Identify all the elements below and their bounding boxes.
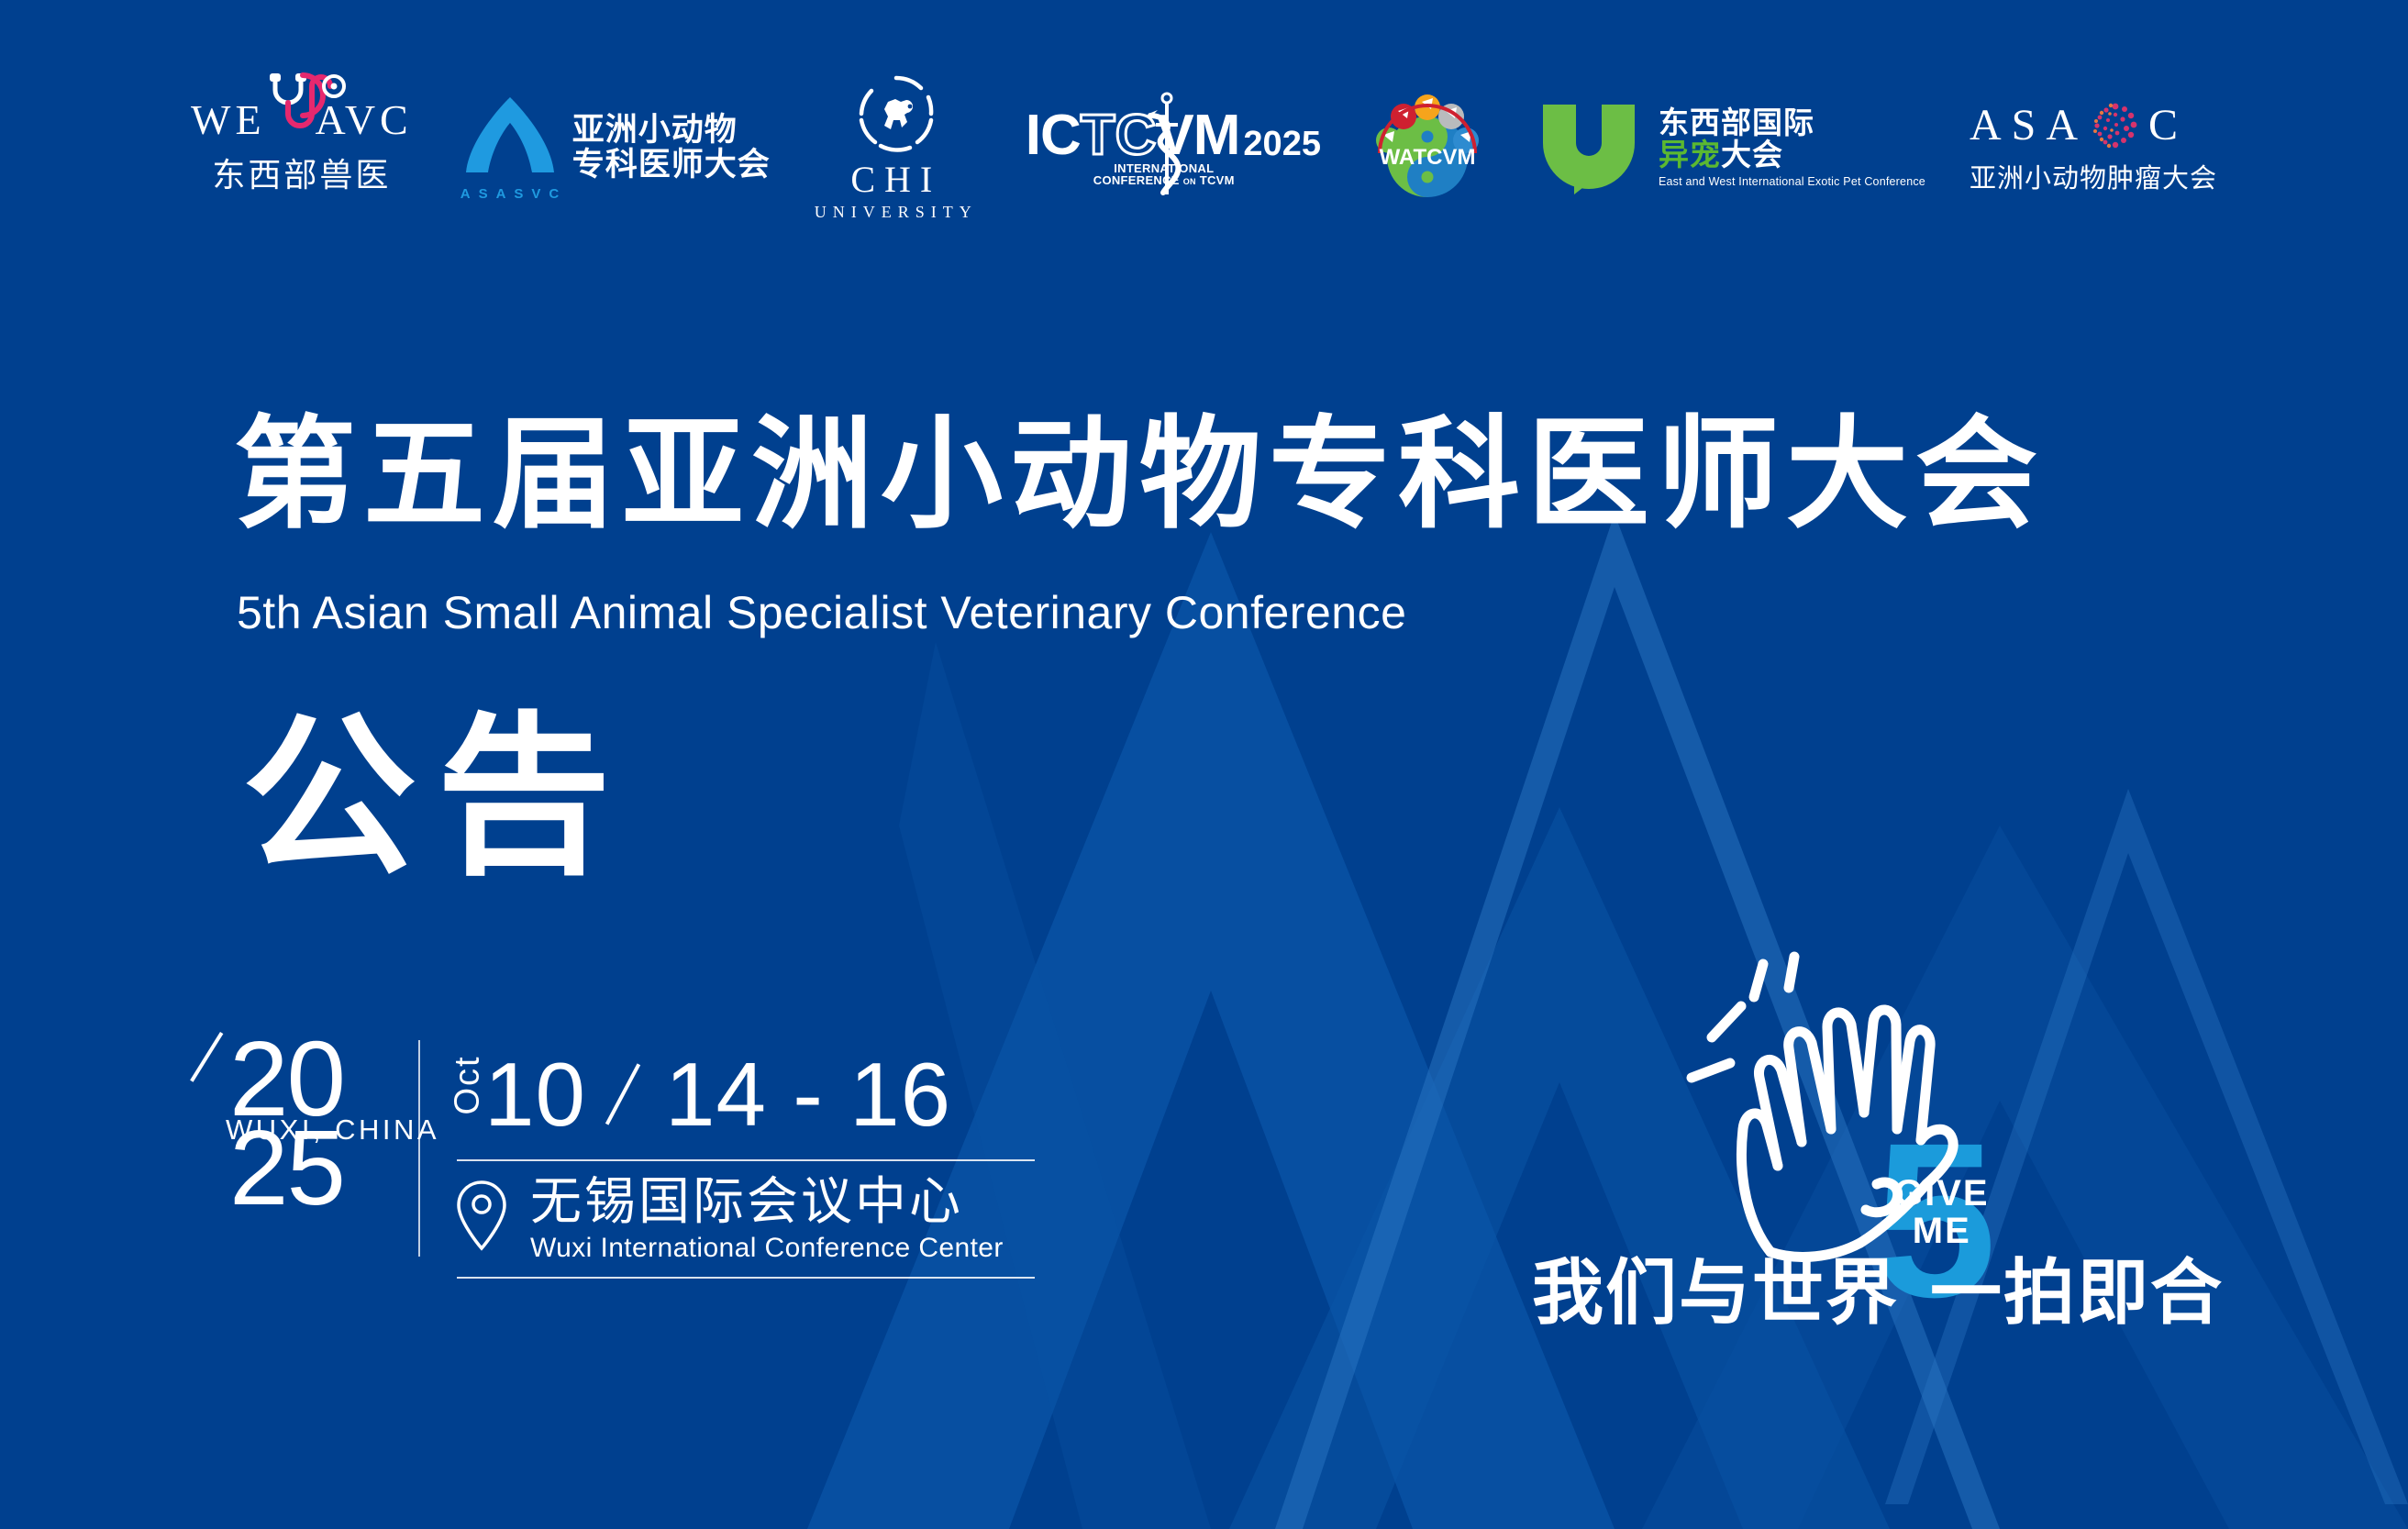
partner-logo-strip: WEAVC 东西部兽医 ASASVC 亚洲小动物 专科医师大会 [0, 88, 2408, 207]
logo-exotic-chinese-2-white: 大会 [1721, 138, 1783, 172]
logo-ictcvm-sub-tcvm: TCVM [1200, 173, 1235, 187]
logo-ictcvm-ic: IC [1026, 110, 1081, 161]
logo-wesavc-left: WE [191, 96, 266, 143]
campaign-me: ME [1894, 1213, 1990, 1250]
logo-asaoc-chinese: 亚洲小动物肿瘤大会 [1970, 157, 2217, 195]
logo-asaoc-letters-left: ASA [1970, 104, 2088, 148]
headline-announcement: 公告 [242, 711, 631, 885]
logo-chi-university: CHI UNIVERSITY [815, 88, 978, 207]
event-day-first: 10 [484, 1049, 586, 1139]
event-dates: 10 14 - 16 [484, 1049, 951, 1139]
conference-announcement-poster: WEAVC 东西部兽医 ASASVC 亚洲小动物 专科医师大会 [0, 0, 2408, 1529]
event-city: WUXI, CHINA [226, 1114, 439, 1147]
logo-asaoc: ASA [1970, 88, 2217, 207]
logo-asaoc-letters-right: C [2148, 104, 2188, 148]
yin-yang-people-globe-icon: WATCVM [1363, 89, 1492, 206]
horse-circle-emblem-icon [857, 74, 936, 153]
logo-asasvc-chinese-2: 专科医师大会 [572, 148, 771, 183]
logo-exotic-chinese-2-green: 异宠 [1659, 138, 1721, 172]
event-venue-english: Wuxi International Conference Center [530, 1233, 1004, 1264]
logo-asasvc-chinese-1: 亚洲小动物 [572, 113, 771, 148]
event-venue-chinese: 无锡国际会议中心 [530, 1174, 1004, 1229]
page-title-english: 5th Asian Small Animal Specialist Veteri… [237, 585, 1406, 640]
campaign-slogan-left: 我们与世界 [1532, 1252, 1899, 1333]
logo-ictcvm-sub: INTERNATIONAL CONFERENCE ON TCVM [1068, 162, 1260, 187]
stethoscope-icon [262, 70, 347, 135]
page-title-chinese: 第五届亚洲小动物专科医师大会 [234, 415, 2045, 537]
logo-ictcvm-year: 2025 [1243, 127, 1321, 161]
logo-asasvc-sub: ASASVC [461, 186, 560, 202]
chevron-a-mark-icon [462, 94, 558, 178]
green-u-mark-icon [1534, 97, 1644, 198]
logo-chi-subtitle: UNIVERSITY [815, 203, 978, 222]
logo-exotic-chinese-1: 东西部国际 [1659, 107, 1925, 139]
logo-ictcvm-sub-on: ON [1183, 177, 1196, 186]
logo-watcvm: WATCVM [1363, 88, 1492, 207]
campaign-give: GIVE [1894, 1175, 1990, 1213]
event-year-column: 20 25 WUXI, CHINA [229, 1035, 413, 1279]
logo-asasvc: ASASVC 亚洲小动物 专科医师大会 [461, 88, 771, 207]
logo-ictcvm-sub-conference: CONFERENCE [1093, 173, 1180, 187]
slash-decoration [190, 1032, 223, 1082]
logo-chi-name: CHI [815, 161, 978, 198]
logo-exotic-pet-conference: 东西部国际 异宠大会 East and West International E… [1534, 88, 1925, 207]
high-five-hands-icon [1660, 949, 2055, 1289]
logo-watcvm-text: WATCVM [1380, 145, 1476, 170]
campaign-slogan-right: 一拍即合 [1930, 1252, 2224, 1333]
location-pin-icon [455, 1180, 508, 1256]
logo-ictcvm: IC TC VM 2025 INTERNATIONAL CONFERENCE [1026, 88, 1321, 207]
campaign-slogan: 我们与世界一拍即合 [1532, 1257, 2224, 1328]
vertical-divider [418, 1040, 420, 1257]
event-day-range: 14 - 16 [665, 1049, 951, 1139]
campaign-give-me-label: GIVE ME [1894, 1175, 1990, 1250]
event-details-block: 20 25 WUXI, CHINA Oct 10 14 - 16 [229, 1035, 1035, 1279]
logo-wesavc: WEAVC 东西部兽医 [191, 88, 413, 207]
logo-ictcvm-tc: TC [1081, 110, 1157, 161]
logo-ictcvm-sub-line1: INTERNATIONAL [1068, 162, 1260, 175]
date-slash-decoration [605, 1063, 640, 1125]
event-date-venue-column: Oct 10 14 - 16 [448, 1035, 1035, 1279]
logo-wesavc-chinese: 东西部兽医 [191, 149, 413, 196]
venue-divider-line [457, 1277, 1035, 1279]
event-month: Oct [449, 1074, 488, 1114]
halftone-sphere-icon [2090, 100, 2141, 151]
date-divider-line [457, 1159, 1035, 1161]
logo-exotic-english: East and West International Exotic Pet C… [1659, 176, 1925, 188]
